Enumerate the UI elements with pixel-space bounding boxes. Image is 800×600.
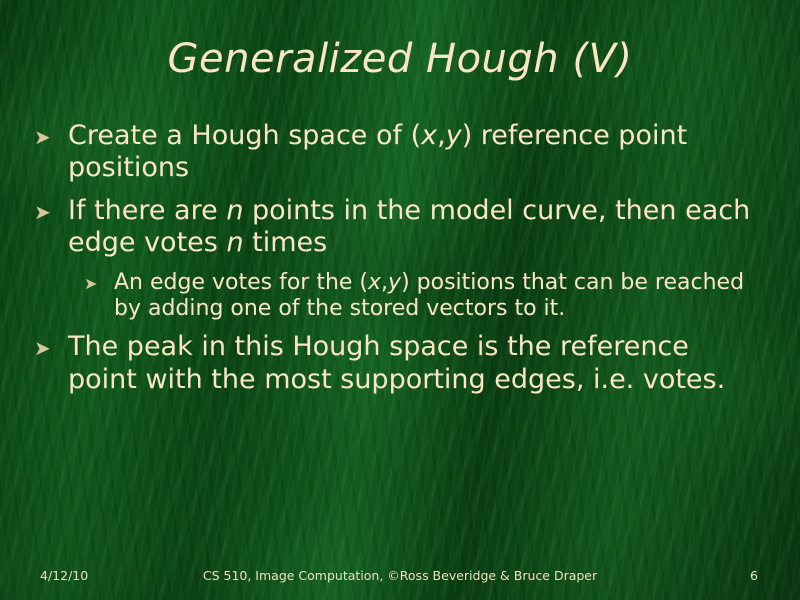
bullet-item: ➤If there are n points in the model curv… bbox=[34, 195, 774, 260]
bullet-text: If there are n points in the model curve… bbox=[68, 195, 774, 260]
bullet-marker-icon: ➤ bbox=[84, 270, 114, 292]
slide-title: Generalized Hough (V) bbox=[0, 36, 800, 82]
footer-attribution: CS 510, Image Computation, ©Ross Beverid… bbox=[0, 568, 800, 583]
bullet-marker-icon: ➤ bbox=[34, 331, 68, 358]
bullet-text: The peak in this Hough space is the refe… bbox=[68, 331, 774, 396]
bullet-marker-icon: ➤ bbox=[34, 120, 68, 147]
bullet-item: ➤ An edge votes for the (x,y) positions … bbox=[84, 270, 774, 324]
bullet-item: ➤The peak in this Hough space is the ref… bbox=[34, 331, 774, 396]
bullet-item: ➤Create a Hough space of (x,y) reference… bbox=[34, 120, 774, 185]
slide: Generalized Hough (V) ➤Create a Hough sp… bbox=[0, 0, 800, 600]
footer-page-number: 6 bbox=[750, 568, 758, 583]
slide-footer: 4/12/10 CS 510, Image Computation, ©Ross… bbox=[0, 568, 800, 586]
slide-content: Generalized Hough (V) ➤Create a Hough sp… bbox=[0, 0, 800, 600]
bullet-text: Create a Hough space of (x,y) reference … bbox=[68, 120, 774, 185]
bullet-list: ➤Create a Hough space of (x,y) reference… bbox=[34, 120, 774, 406]
bullet-text: An edge votes for the (x,y) positions th… bbox=[114, 270, 774, 324]
bullet-marker-icon: ➤ bbox=[34, 195, 68, 222]
